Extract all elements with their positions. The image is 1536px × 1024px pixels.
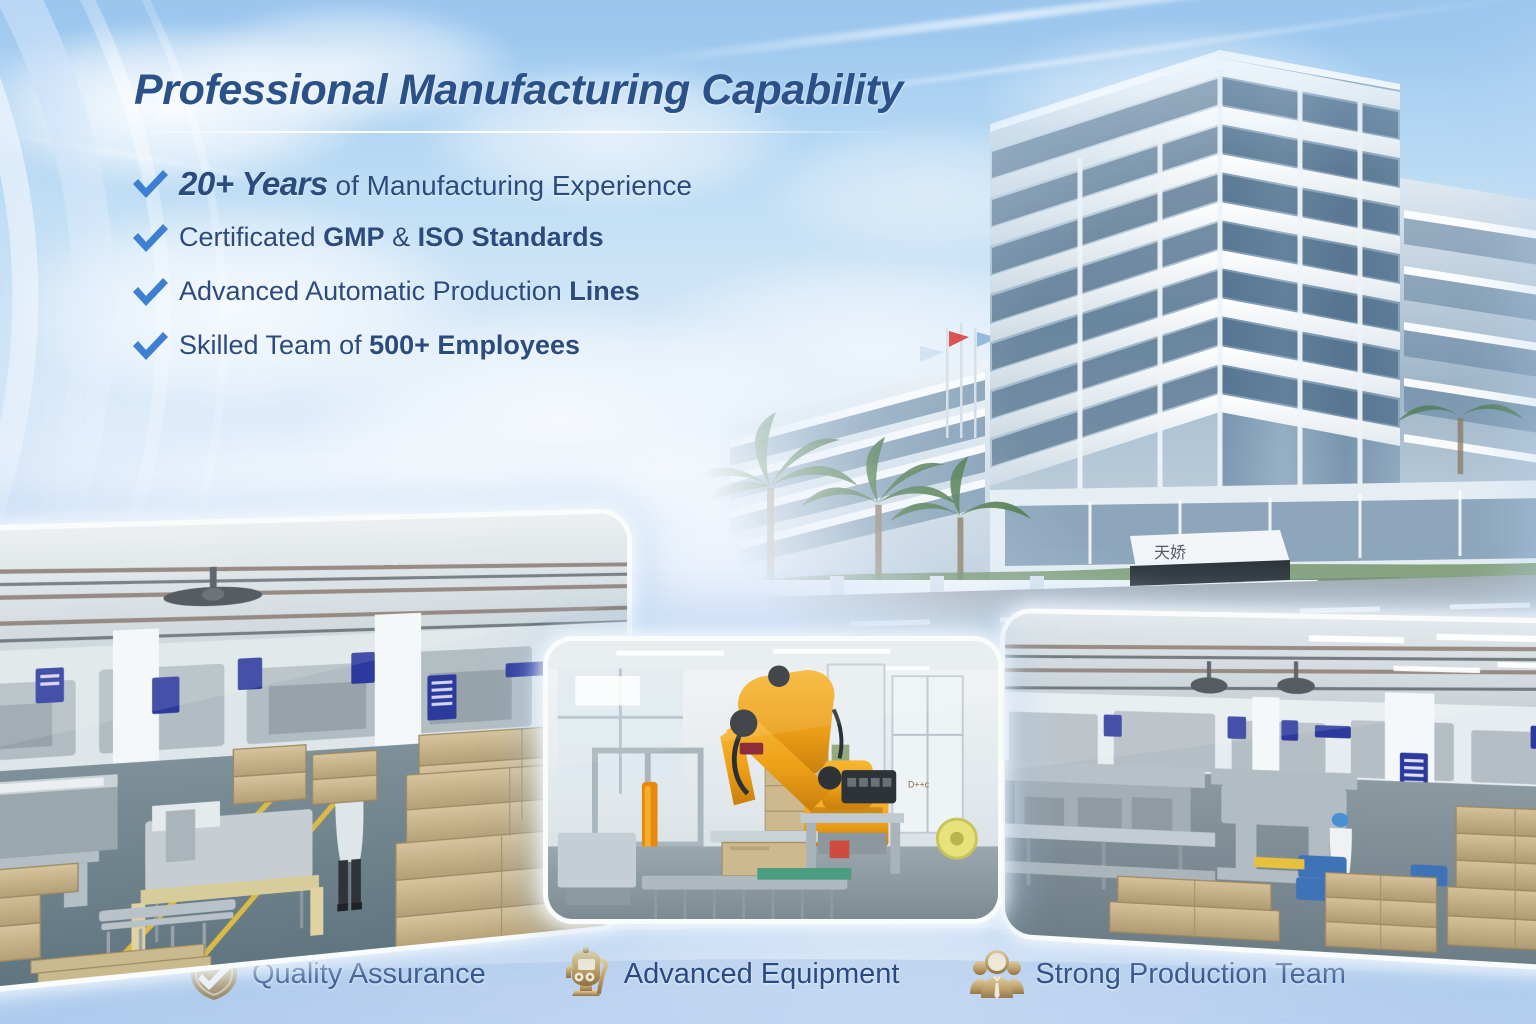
list-item: 20+ Years of Manufacturing Experience	[130, 158, 950, 209]
check-icon	[130, 275, 170, 309]
bullet-highlight: 20+ Years	[179, 165, 328, 202]
feature-bullet-list: 20+ Years of Manufacturing Experience Ce…	[130, 158, 950, 373]
bullet-text: Skilled Team of 500+ Employees	[179, 332, 580, 359]
banner-stage: 天娇 Professional Manufacturing Capability	[0, 0, 1536, 1024]
factory-floor-packaging-photo	[0, 508, 632, 1000]
bullet-text: Certificated GMP & ISO Standards	[179, 224, 604, 251]
svg-text:D++c: D++c	[908, 780, 930, 790]
bullet-pre: Skilled Team of	[179, 330, 369, 360]
page-title: Professional Manufacturing Capability	[134, 66, 934, 115]
feature-advanced-equipment: Advanced Equipment	[558, 946, 900, 1002]
svg-text:天娇: 天娇	[1154, 544, 1186, 562]
list-item: Advanced Automatic Production Lines	[130, 266, 950, 317]
feature-label: Strong Production Team	[1035, 958, 1346, 991]
check-icon	[130, 167, 170, 201]
headline-block: Professional Manufacturing Capability	[134, 66, 934, 133]
bullet-text: 20+ Years of Manufacturing Experience	[179, 167, 692, 200]
bullet-pre: Certificated	[179, 222, 323, 252]
machine-icon	[558, 946, 614, 1002]
bullet-bold-gmp: GMP	[323, 222, 385, 252]
bullet-text: Advanced Automatic Production Lines	[179, 278, 640, 305]
team-icon	[969, 946, 1025, 1002]
list-item: Skilled Team of 500+ Employees	[130, 320, 950, 371]
check-icon	[130, 329, 170, 363]
check-icon	[130, 221, 170, 255]
bullet-bold-employees: 500+ Employees	[369, 330, 580, 360]
title-divider	[134, 131, 904, 133]
bullet-bold-lines: Lines	[569, 276, 640, 306]
production-workshop-photo	[1000, 608, 1536, 973]
list-item: Certificated GMP & ISO Standards	[130, 212, 950, 263]
bullet-pre: Advanced Automatic Production	[179, 276, 569, 306]
bullet-bold-iso: ISO Standards	[418, 222, 604, 252]
feature-label: Advanced Equipment	[624, 958, 900, 991]
bullet-rest: of Manufacturing Experience	[328, 170, 692, 201]
bullet-mid: &	[385, 222, 418, 252]
robotic-palletizer-photo: D++c	[543, 636, 1003, 924]
